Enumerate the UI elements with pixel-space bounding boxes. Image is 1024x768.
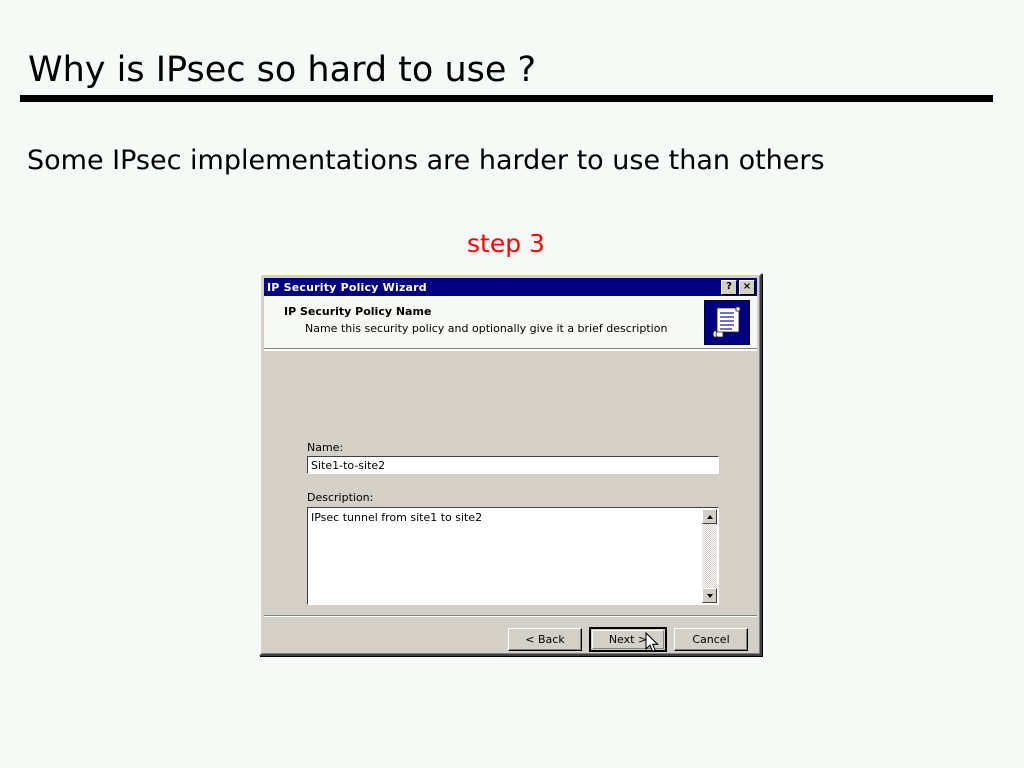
back-button-label: < Back xyxy=(525,633,564,646)
scrollbar-track[interactable] xyxy=(702,524,717,588)
close-icon[interactable]: × xyxy=(739,280,755,295)
description-field-label: Description: xyxy=(307,491,373,504)
arrow-down-glyph xyxy=(707,594,713,598)
step-label: step 3 xyxy=(467,229,545,258)
wizard-body: Name: Site1-to-site2 Description: IPsec … xyxy=(264,351,757,651)
dialog-button-bar: < Back Next > Cancel xyxy=(508,628,748,652)
name-input[interactable]: Site1-to-site2 xyxy=(307,456,719,474)
dialog-title-text: IP Security Policy Wizard xyxy=(267,281,719,294)
cancel-button-label: Cancel xyxy=(692,633,729,646)
description-textarea-value: IPsec tunnel from site1 to site2 xyxy=(311,511,482,524)
next-button[interactable]: Next > xyxy=(589,627,667,652)
title-divider xyxy=(20,95,993,102)
back-button[interactable]: < Back xyxy=(508,628,582,651)
scroll-document-icon xyxy=(704,300,750,345)
scroll-up-arrow-icon[interactable] xyxy=(702,509,717,524)
dialog-inner-frame: IP Security Policy Wizard ? × IP Securit… xyxy=(261,275,760,654)
dialog-titlebar[interactable]: IP Security Policy Wizard ? × xyxy=(264,278,757,296)
arrow-up-glyph xyxy=(707,515,713,519)
ip-security-policy-wizard-dialog: IP Security Policy Wizard ? × IP Securit… xyxy=(259,273,762,656)
description-textarea[interactable]: IPsec tunnel from site1 to site2 xyxy=(307,507,719,605)
scroll-down-arrow-icon[interactable] xyxy=(702,588,717,603)
wizard-header: IP Security Policy Name Name this securi… xyxy=(264,296,757,349)
description-scrollbar[interactable] xyxy=(702,509,717,603)
wizard-header-description: Name this security policy and optionally… xyxy=(305,322,667,335)
name-field-label: Name: xyxy=(307,441,343,454)
cancel-button[interactable]: Cancel xyxy=(674,628,748,651)
next-button-label: Next > xyxy=(609,633,647,646)
wizard-header-heading: IP Security Policy Name xyxy=(284,305,431,318)
page-title: Why is IPsec so hard to use ? xyxy=(28,50,536,90)
name-input-value: Site1-to-site2 xyxy=(311,459,385,472)
slide-subtitle: Some IPsec implementations are harder to… xyxy=(27,145,825,176)
button-bar-divider xyxy=(264,615,757,617)
help-icon[interactable]: ? xyxy=(721,280,737,295)
